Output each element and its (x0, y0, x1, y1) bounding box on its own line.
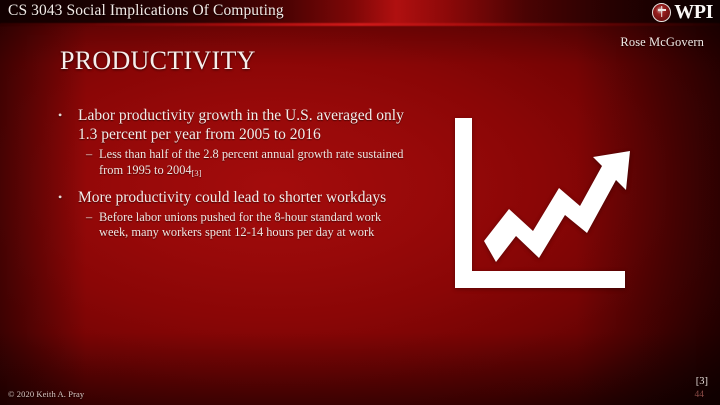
page-number: 44 (695, 390, 705, 400)
bullet-marker: • (58, 188, 78, 207)
author-name: Rose McGovern (620, 35, 704, 50)
chart-trend-arrow-shape (484, 151, 630, 262)
wpi-seal-icon (652, 3, 671, 22)
course-title: CS 3043 Social Implications Of Computing (8, 2, 284, 20)
bullet-text: More productivity could lead to shorter … (78, 188, 408, 207)
sub-bullet-marker: – (86, 147, 99, 178)
sub-bullet-body: Before labor unions pushed for the 8-hou… (99, 210, 381, 240)
bullet-marker: • (58, 106, 78, 144)
growth-chart-up-arrow-icon (447, 112, 637, 302)
sub-bullet-text: Before labor unions pushed for the 8-hou… (99, 210, 408, 241)
sub-bullet-item: – Before labor unions pushed for the 8-h… (58, 210, 408, 241)
bullet-item: • More productivity could lead to shorte… (58, 188, 408, 207)
sub-bullet-marker: – (86, 210, 99, 241)
reference-tag: [3] (696, 376, 708, 387)
sub-bullet-text: Less than half of the 2.8 percent annual… (99, 147, 408, 178)
bullet-item: • Labor productivity growth in the U.S. … (58, 106, 408, 144)
banner-glow-divider (0, 23, 720, 26)
wpi-logo: WPI (652, 1, 713, 23)
citation-marker: [3] (192, 168, 202, 178)
copyright-notice: © 2020 Keith A. Pray (8, 389, 84, 399)
growth-chart-image (447, 112, 637, 302)
top-banner: CS 3043 Social Implications Of Computing (0, 0, 720, 24)
wpi-logo-text: WPI (674, 2, 713, 22)
sub-bullet-body: Less than half of the 2.8 percent annual… (99, 147, 404, 177)
bullet-list: • Labor productivity growth in the U.S. … (58, 106, 408, 250)
sub-bullet-item: – Less than half of the 2.8 percent annu… (58, 147, 408, 178)
slide-canvas: CS 3043 Social Implications Of Computing… (0, 0, 720, 405)
bullet-text: Labor productivity growth in the U.S. av… (78, 106, 408, 144)
page-title: PRODUCTIVITY (60, 46, 256, 76)
